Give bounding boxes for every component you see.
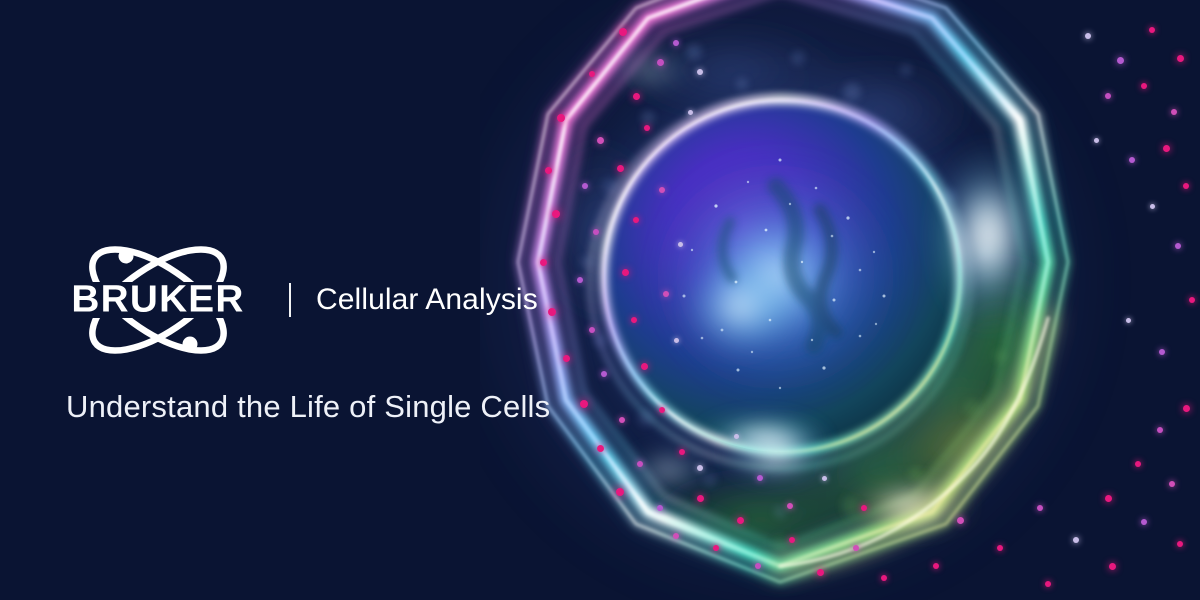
product-name: Cellular Analysis [316, 285, 538, 315]
brand-block: BRUKER Cellular Analysis Understand the … [66, 238, 550, 422]
hero-banner: BRUKER Cellular Analysis Understand the … [0, 0, 1200, 600]
svg-text:BRUKER: BRUKER [71, 278, 244, 321]
brand-divider [289, 283, 291, 317]
bruker-atom-logo-icon: BRUKER [66, 238, 250, 362]
logo-row: BRUKER Cellular Analysis [66, 238, 550, 362]
tagline: Understand the Life of Single Cells [66, 391, 550, 422]
single-cell-illustration [480, 0, 1200, 600]
